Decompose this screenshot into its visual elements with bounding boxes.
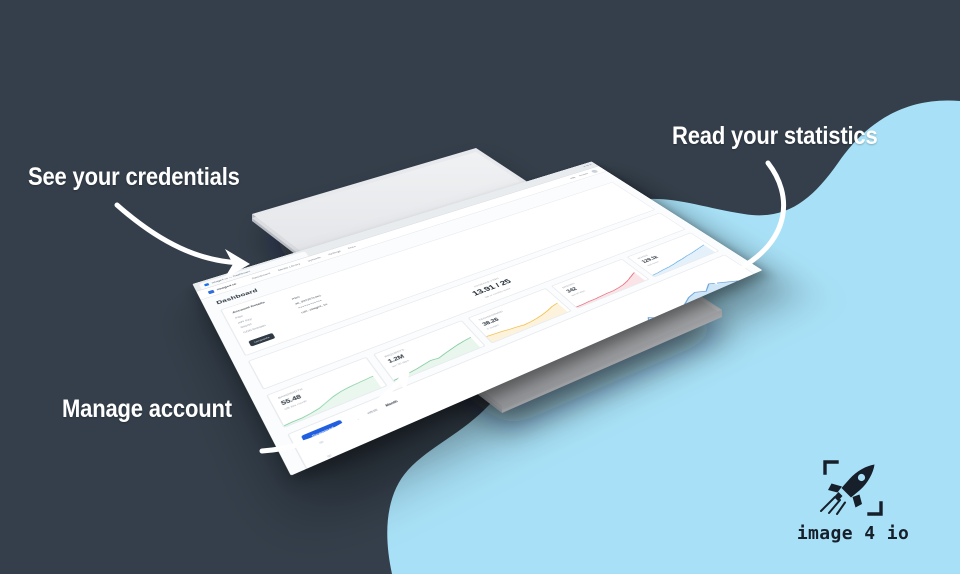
annotation-label-manage: Manage account: [62, 395, 232, 424]
rocket-icon: [811, 455, 895, 521]
annotation-label-statistics: Read your statistics: [672, 122, 878, 151]
rocket-window: [857, 473, 866, 482]
arrow-manage: [262, 378, 402, 451]
annotation-label-credentials: See your credentials: [28, 163, 240, 192]
arrow-statistics: [744, 163, 784, 266]
rocket-trails: [821, 497, 845, 514]
poster-canvas: image4.io — Dashboard image4.io: [0, 0, 960, 574]
arrow-head-statistics: [692, 258, 718, 285]
rocket-shape: [828, 465, 875, 508]
brand-logo: image 4 io: [793, 455, 913, 555]
arrow-credentials: [117, 205, 243, 263]
logo-text: image 4 io: [797, 523, 909, 544]
